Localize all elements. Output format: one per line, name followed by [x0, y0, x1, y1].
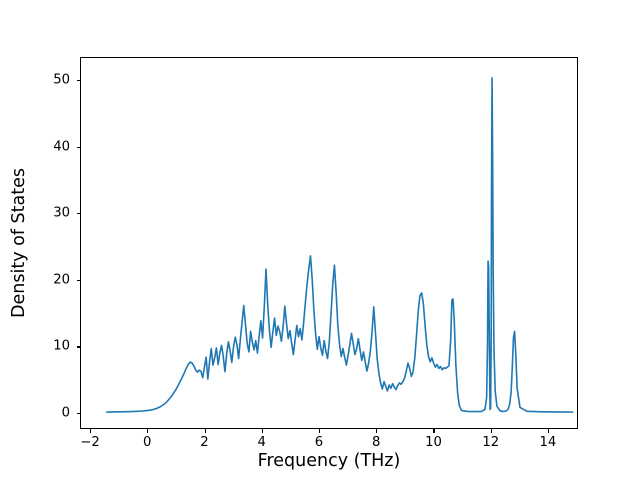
- x-tick-mark: [262, 429, 263, 433]
- x-tick-mark: [319, 429, 320, 433]
- x-tick-label: 0: [143, 436, 151, 449]
- x-tick-label: 4: [258, 436, 266, 449]
- x-tick-label: 12: [482, 436, 499, 449]
- x-tick-mark: [147, 429, 148, 433]
- figure-canvas: Density of States Frequency (THz) −20246…: [0, 0, 640, 480]
- x-tick-mark: [205, 429, 206, 433]
- x-tick-label: 2: [200, 436, 208, 449]
- x-tick-mark: [491, 429, 492, 433]
- y-tick-label: 50: [53, 74, 70, 87]
- y-tick-mark: [77, 213, 81, 214]
- dos-curve-path: [107, 78, 573, 412]
- y-tick-label: 20: [53, 273, 70, 286]
- x-tick-mark: [90, 429, 91, 433]
- x-tick-label: 10: [425, 436, 442, 449]
- plot-axes-frame: [80, 57, 578, 429]
- y-axis-label-text: Density of States: [9, 168, 29, 318]
- y-axis-label: Density of States: [6, 57, 32, 429]
- dos-line-plot: [81, 58, 577, 428]
- x-tick-label: 14: [540, 436, 557, 449]
- x-tick-mark: [548, 429, 549, 433]
- x-tick-label: −2: [80, 436, 99, 449]
- y-tick-mark: [77, 346, 81, 347]
- y-tick-mark: [77, 413, 81, 414]
- y-tick-mark: [77, 147, 81, 148]
- y-tick-label: 40: [53, 140, 70, 153]
- x-tick-label: 8: [372, 436, 380, 449]
- y-tick-mark: [77, 80, 81, 81]
- x-tick-mark: [376, 429, 377, 433]
- x-axis-label: Frequency (THz): [80, 452, 578, 471]
- y-tick-mark: [77, 280, 81, 281]
- y-tick-label: 10: [53, 340, 70, 353]
- x-tick-label: 6: [315, 436, 323, 449]
- x-tick-mark: [433, 429, 434, 433]
- y-tick-label: 0: [62, 406, 70, 419]
- y-tick-label: 30: [53, 207, 70, 220]
- x-axis-label-text: Frequency (THz): [258, 451, 401, 471]
